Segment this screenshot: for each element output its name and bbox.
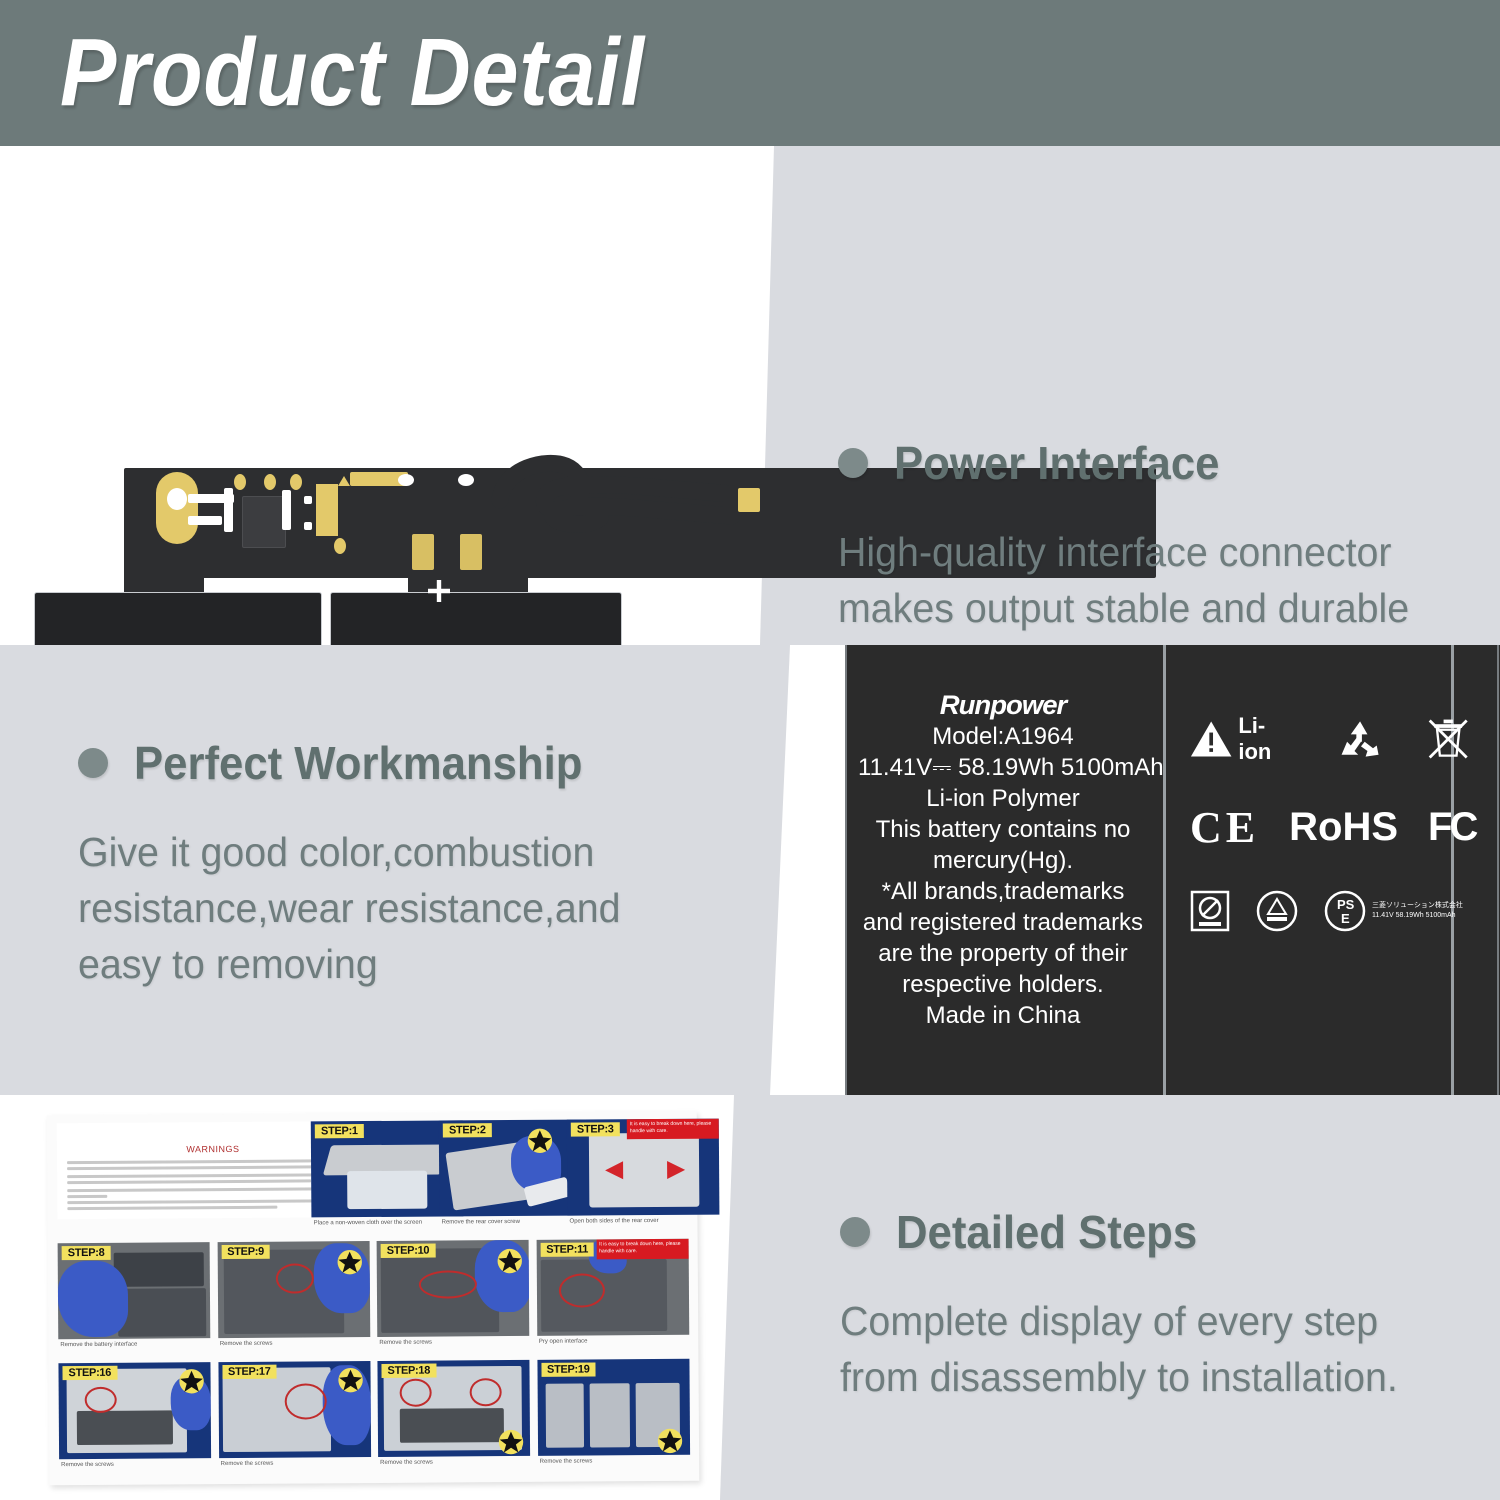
page-header: Product Detail [0, 0, 1500, 146]
brand-name: Runpower [855, 690, 1151, 721]
step-cell: STEP:2 Remove the rear cover screw [439, 1120, 560, 1236]
gold-connector-fingers [316, 484, 338, 536]
bullet-icon [838, 448, 868, 478]
feature-body: Complete display of every step from disa… [840, 1293, 1454, 1405]
arrow-right-icon [667, 1161, 685, 1179]
ul-csa-icon [1256, 890, 1298, 932]
label-line-tm-2: and registered trademarks [858, 907, 1148, 938]
recycle-icon [1336, 716, 1384, 762]
step-label: STEP:16 [62, 1366, 117, 1380]
step-cell: STEP:18 Remove the screws [377, 1360, 529, 1476]
step-caption: Place a non-woven cloth over the screen [314, 1220, 422, 1227]
star-badge-yellow-icon [657, 1428, 683, 1454]
pb-free-icon [1190, 890, 1230, 932]
ribbon-connector-gold [738, 488, 760, 512]
li-ion-warning-group: Li-ion [1190, 713, 1294, 765]
fcc-mark-label: FC [1428, 805, 1475, 850]
step-caption: Remove the battery interface [60, 1342, 137, 1349]
sheet-row: WARNINGS [57, 1119, 688, 1238]
step-label: STEP:10 [381, 1244, 436, 1258]
gold-dot-a [234, 474, 246, 490]
instruction-sheet-image: WARNINGS [47, 1111, 700, 1486]
highlight-circle-left [400, 1379, 432, 1407]
highlight-circle [85, 1387, 117, 1413]
step-cell: It is easy to break down here, please ha… [536, 1239, 688, 1355]
feature-body-line: from disassembly to installation. [840, 1349, 1454, 1405]
feature-title: Perfect Workmanship [134, 736, 582, 790]
battery-cell-right [330, 592, 622, 645]
battery-seam-1 [1163, 645, 1166, 1095]
feature-power-interface: Power Interface High-quality interface c… [838, 436, 1498, 636]
gloved-hand [58, 1261, 129, 1337]
label-line-tm-3: are the property of their [858, 938, 1148, 969]
product-detail-page: Product Detail [0, 0, 1500, 1500]
step-cell: STEP:17 Remove the screws [218, 1361, 370, 1477]
label-line-tm-1: *All brands,trademarks [858, 876, 1148, 907]
gold-dot-c [290, 474, 302, 490]
label-line-hg-2: mercury(Hg). [858, 845, 1148, 876]
logic-board [114, 1252, 204, 1287]
feature-detailed-steps: Detailed Steps Complete display of every… [840, 1205, 1480, 1405]
step-label: STEP:1 [315, 1124, 364, 1138]
label-line-hg-1: This battery contains no [858, 814, 1148, 845]
battery-cells [400, 1408, 504, 1443]
cert-row-mid: CE RoHS FC [1190, 795, 1470, 859]
pcb-leg-left [124, 558, 204, 594]
highlight-circle-right [470, 1378, 502, 1406]
step-label: STEP:11 [540, 1242, 594, 1256]
step-label: STEP:8 [62, 1246, 111, 1260]
pcb-connector-image [20, 446, 760, 645]
step-label: STEP:2 [443, 1123, 492, 1137]
smd-col-2 [282, 490, 291, 530]
battery-cells [77, 1410, 173, 1445]
bullet-icon [840, 1217, 870, 1247]
svg-text:E: E [1341, 911, 1350, 926]
part-b [589, 1383, 629, 1447]
label-line-origin: Made in China [858, 1000, 1148, 1031]
pse-note: 三菱ソリューション株式会社 11.41V 58.19Wh 5100mAh [1372, 901, 1463, 921]
step-caption: Remove the screws [220, 1341, 273, 1347]
page-title: Product Detail [60, 18, 645, 128]
step-caption: Remove the screws [379, 1340, 432, 1346]
feature-title: Power Interface [894, 436, 1219, 490]
cert-row-top: Li-ion [1190, 713, 1470, 765]
feature-body-line: easy to removing [78, 936, 731, 992]
pse-note-line: 11.41V 58.19Wh 5100mAh [1372, 911, 1463, 921]
step-cell: STEP:10 Remove the screws [377, 1240, 529, 1356]
crossed-out-bin-icon [1426, 715, 1470, 763]
certification-marks: Li-ion CE RoHS FC [1190, 713, 1470, 937]
feature-title: Detailed Steps [896, 1205, 1197, 1259]
star-badge-black-icon [337, 1249, 363, 1275]
step-label: STEP:9 [221, 1245, 270, 1259]
battery-cell-left [34, 592, 322, 645]
feature-heading: Perfect Workmanship [78, 736, 758, 790]
ic-chip [242, 496, 286, 548]
step-warning-banner: It is easy to break down here, please ha… [627, 1119, 719, 1140]
mount-hole-1 [398, 474, 414, 486]
rohs-mark-label: RoHS [1289, 805, 1398, 850]
star-badge-yellow-icon [337, 1367, 363, 1393]
feature-perfect-workmanship: Perfect Workmanship Give it good color,c… [78, 736, 758, 992]
part-a [545, 1384, 583, 1448]
feature-body-line: resistance,wear resistance,and [78, 880, 731, 936]
smd-col-1 [224, 488, 233, 532]
step-cell: STEP:16 Remove the screws [58, 1362, 210, 1478]
step-cell: STEP:8 Remove the battery interface [58, 1242, 210, 1358]
battery-pack [118, 1288, 206, 1337]
instruction-sheet-grid: WARNINGS [57, 1119, 689, 1479]
pcb-hole-white [167, 488, 187, 510]
gold-dot-d [334, 538, 346, 554]
step-cell: It is easy to break down here, please ha… [567, 1119, 688, 1235]
step-caption: Remove the screws [61, 1462, 114, 1468]
step-label: STEP:3 [571, 1122, 620, 1136]
section-power-interface: Power Interface High-quality interface c… [0, 146, 1500, 645]
step-label: STEP:17 [222, 1365, 277, 1379]
step-caption: Remove the screws [540, 1458, 593, 1464]
label-line-rating: 11.41V⎓ 58.19Wh 5100mAh [858, 752, 1148, 783]
battery-label-text: Runpower Model:A1964 11.41V⎓ 58.19Wh 510… [858, 690, 1148, 1031]
pse-note-line: 三菱ソリューション株式会社 [1372, 901, 1463, 911]
gold-contact-b [460, 534, 482, 570]
smd-dot-1 [304, 496, 312, 504]
feature-body: High-quality interface connector makes o… [838, 524, 1472, 636]
gold-contact-a [412, 534, 434, 570]
ce-mark-label: CE [1190, 802, 1259, 853]
warnings-cell: WARNINGS [57, 1121, 304, 1238]
label-line-model: Model:A1964 [858, 721, 1148, 752]
warning-triangle-icon [1190, 718, 1232, 760]
step-caption: Remove the screws [380, 1460, 433, 1466]
label-line-tm-4: respective holders. [858, 969, 1148, 1000]
battery-right-edge [1497, 645, 1499, 1095]
label-line-chem: Li-ion Polymer [858, 783, 1148, 814]
mount-hole-2 [458, 474, 474, 486]
step-caption: Remove the rear cover screw [442, 1219, 520, 1226]
star-badge-black-icon [496, 1248, 522, 1274]
pse-mark-icon: PS E [1324, 890, 1366, 932]
section-detailed-steps: WARNINGS [0, 1095, 1500, 1500]
cert-row-bottom: PS E 三菱ソリューション株式会社 11.41V 58.19Wh 5100mA… [1190, 885, 1470, 937]
li-ion-label: Li-ion [1238, 713, 1293, 765]
step-caption: Pry open interface [539, 1339, 588, 1345]
section-perfect-workmanship: Perfect Workmanship Give it good color,c… [0, 645, 1500, 1095]
step-label: STEP:19 [541, 1362, 596, 1376]
pse-group: PS E 三菱ソリューション株式会社 11.41V 58.19Wh 5100mA… [1324, 890, 1463, 932]
feature-heading: Detailed Steps [840, 1205, 1480, 1259]
star-badge-yellow-icon [497, 1429, 523, 1455]
sheet-row: STEP:8 Remove the battery interface STEP… [58, 1239, 689, 1358]
step-caption: Open both sides of the rear cover [570, 1218, 659, 1225]
feature-body-line: Give it good color,combustion [78, 824, 731, 880]
battery-left-edge [845, 645, 847, 1095]
bullet-icon [78, 748, 108, 778]
svg-text:PS: PS [1337, 897, 1355, 912]
step-cell: STEP:19 Remove the screws [537, 1359, 689, 1475]
smd-row-2 [188, 516, 222, 525]
star-badge-yellow-icon [178, 1368, 204, 1394]
step-cell: STEP:9 Remove the screws [217, 1241, 369, 1357]
step-cell: STEP:1 Place a non-woven cloth over the … [311, 1121, 432, 1237]
gold-dot-b [264, 474, 276, 490]
arrow-left-icon [605, 1161, 623, 1179]
step-warning-banner: It is easy to break down here, please ha… [596, 1239, 688, 1260]
highlight-circle [284, 1383, 326, 1419]
star-badge-black-icon [527, 1128, 553, 1154]
smd-dot-2 [304, 522, 312, 530]
step-label: STEP:18 [381, 1364, 436, 1378]
cloth [347, 1171, 427, 1210]
highlight-circle [275, 1263, 313, 1293]
feature-body-line: makes output stable and durable [838, 580, 1472, 636]
ribbon-cable [490, 454, 770, 564]
step-caption: Remove the screws [221, 1461, 274, 1467]
highlight-circle [558, 1273, 604, 1307]
feature-heading: Power Interface [838, 436, 1498, 490]
sheet-row: STEP:16 Remove the screws [58, 1359, 689, 1478]
feature-body: Give it good color,combustion resistance… [78, 824, 731, 992]
feature-body-line: High-quality interface connector [838, 524, 1472, 580]
feature-body-line: Complete display of every step [840, 1293, 1454, 1349]
